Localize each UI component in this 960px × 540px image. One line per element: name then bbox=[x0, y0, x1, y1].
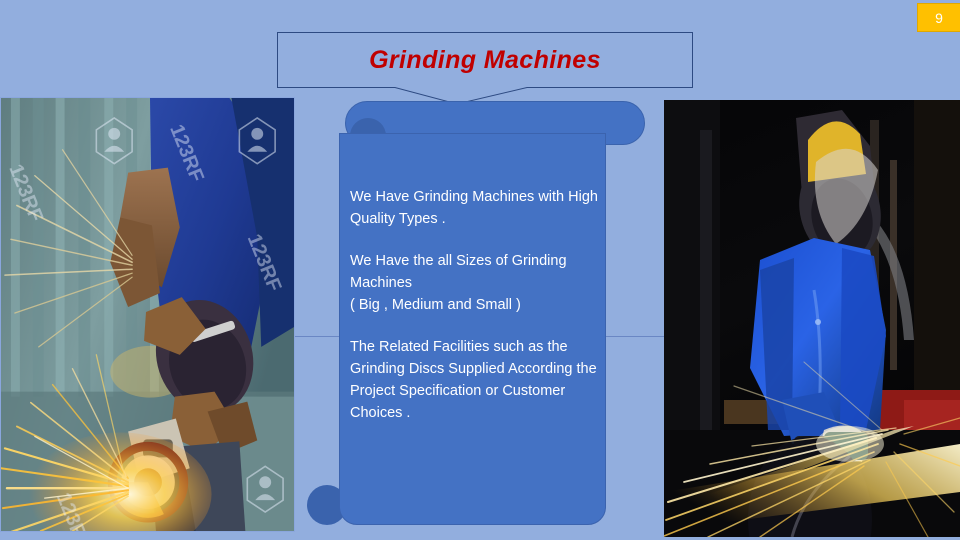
content-paragraph-3: The Related Facilities such as the Grind… bbox=[350, 336, 600, 424]
content-paragraph-2: We Have the all Sizes of Grinding Machin… bbox=[350, 250, 600, 316]
page-title: Grinding Machines bbox=[277, 32, 693, 88]
slide-canvas: 9 Grinding Machines bbox=[0, 0, 960, 540]
page-number-badge: 9 bbox=[917, 3, 960, 32]
image-right-illustration bbox=[664, 100, 960, 537]
content-text-block: We Have Grinding Machines with High Qual… bbox=[350, 186, 600, 424]
image-left-grinder-sparks: 123RF 123RF 123RF 123RF bbox=[0, 97, 295, 532]
title-callout: Grinding Machines bbox=[277, 32, 693, 88]
image-left-illustration: 123RF 123RF 123RF 123RF bbox=[1, 98, 294, 531]
page-number-label: 9 bbox=[935, 11, 943, 25]
image-right-welder-sparks bbox=[664, 100, 960, 537]
content-paragraph-1: We Have Grinding Machines with High Qual… bbox=[350, 186, 600, 230]
